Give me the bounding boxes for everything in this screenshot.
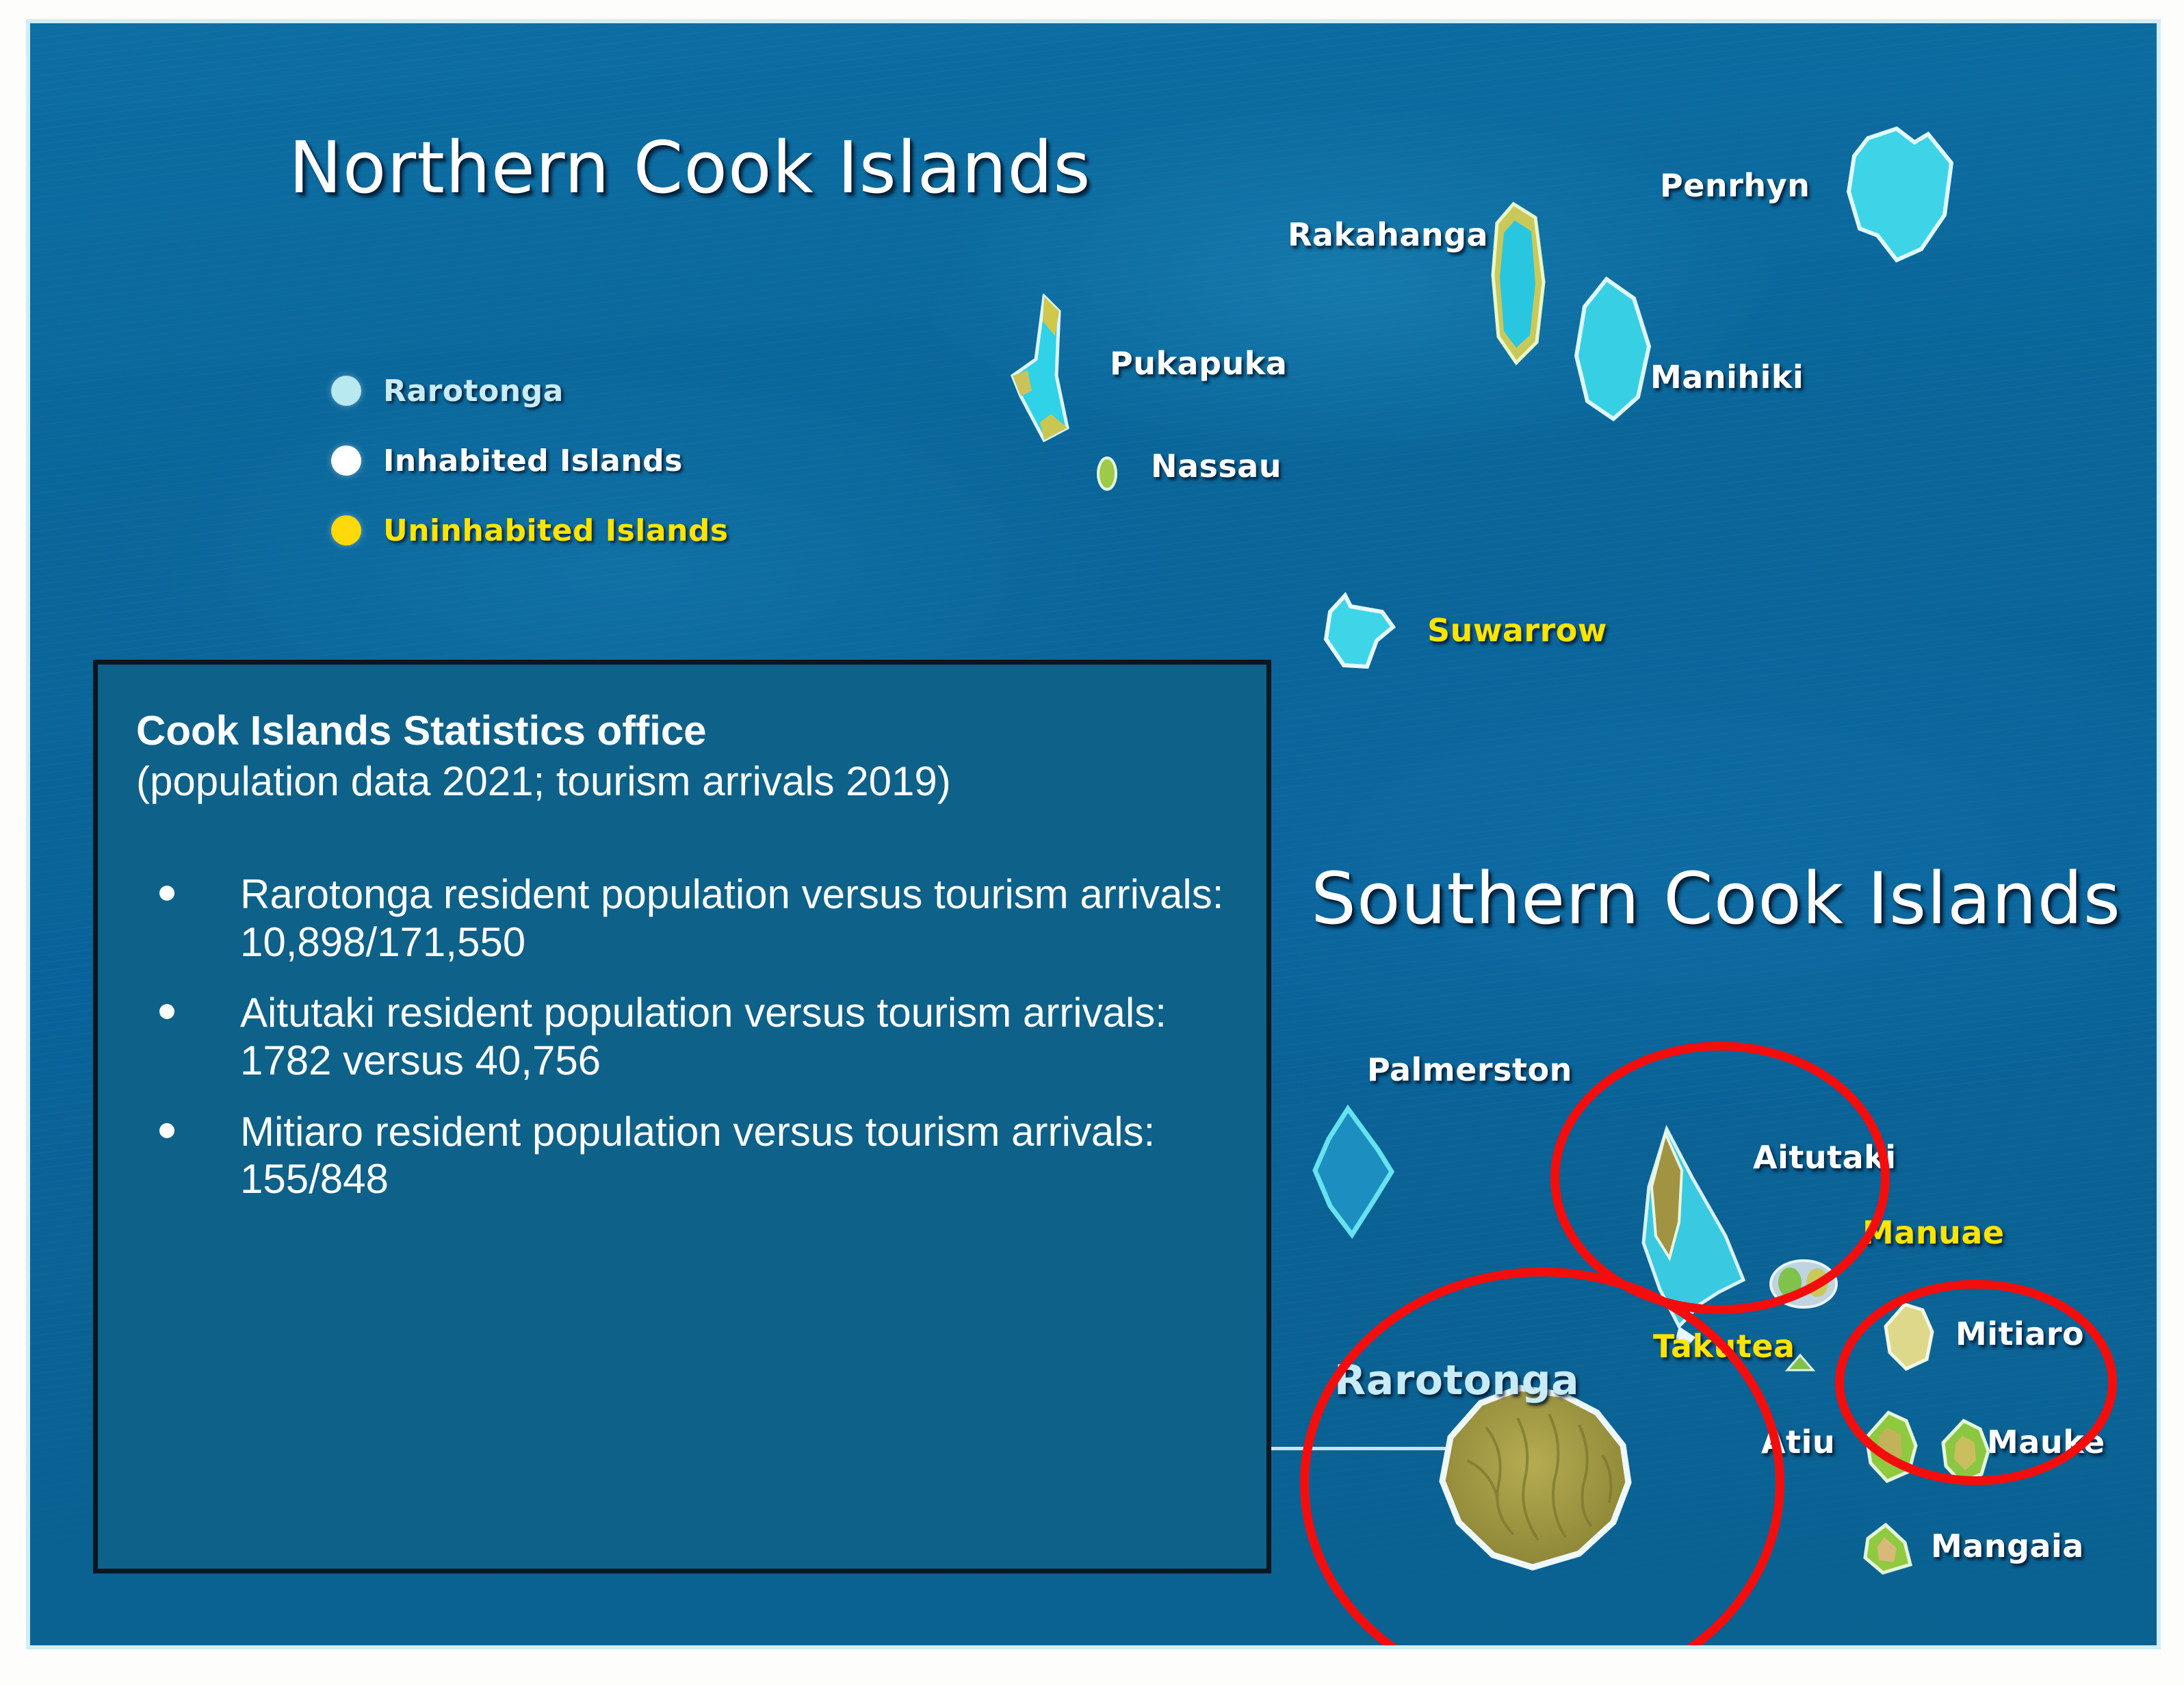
legend-label-inhabited-islands: Inhabited Islands [383,443,683,478]
island-label-manihiki: Manihiki [1650,359,1804,396]
legend-item-rarotonga: Rarotonga [331,374,729,408]
bullet-icon [159,1004,174,1019]
stats-bullet-list: Rarotonga resident population versus tou… [136,871,1228,1203]
island-label-rakahanga: Rakahanga [1288,216,1488,253]
island-shape-pukapuka [1009,294,1091,444]
list-item: Aitutaki resident population versus tour… [136,989,1228,1084]
bullet-icon [159,886,174,901]
screenshot-root: Northern Cook Islands Southern Cook Isla… [0,0,2184,1685]
list-item-text: Rarotonga resident population versus tou… [240,871,1223,965]
highlight-ellipse-mitiaro [1835,1280,2117,1485]
island-label-suwarrow: Suwarrow [1427,612,1607,649]
statistics-text-box: Cook Islands Statistics office (populati… [93,660,1271,1573]
list-item: Mitiaro resident population versus touri… [136,1108,1228,1203]
island-label-pukapuka: Pukapuka [1110,345,1287,382]
island-shape-nassau [1095,456,1119,491]
legend-item-inhabited: Inhabited Islands [331,443,729,478]
island-shape-suwarrow [1319,591,1400,673]
island-shape-penrhyn [1831,126,1965,266]
island-shape-mangaia [1858,1519,1917,1578]
circle-marker-icon [331,446,361,476]
highlight-ellipse-aitutaki [1550,1042,1890,1314]
legend-item-uninhabited: Uninhabited Islands [331,513,729,548]
cook-islands-map: Northern Cook Islands Southern Cook Isla… [26,19,2161,1649]
bullet-icon [159,1123,174,1138]
island-label-nassau: Nassau [1151,448,1282,485]
island-label-palmerston: Palmerston [1367,1051,1572,1088]
island-label-penrhyn: Penrhyn [1660,167,1810,204]
island-shape-palmerston [1305,1105,1414,1244]
northern-cook-islands-title: Northern Cook Islands [289,126,1091,209]
list-item: Rarotonga resident population versus tou… [136,871,1228,966]
island-shape-manihiki [1561,275,1664,424]
map-legend: Rarotonga Inhabited Islands Uninhabited … [331,374,729,583]
southern-cook-islands-title: Southern Cook Islands [1311,857,2121,940]
list-item-text: Mitiaro resident population versus touri… [240,1109,1155,1202]
legend-label-rarotonga: Rarotonga [383,374,564,409]
circle-marker-icon [331,515,361,545]
list-item-text: Aitutaki resident population versus tour… [240,990,1167,1083]
stats-subheading: (population data 2021; tourism arrivals … [136,758,1183,806]
island-shape-rakahanga [1486,200,1557,367]
legend-label-uninhabited-islands: Uninhabited Islands [383,513,729,548]
circle-marker-icon [331,376,361,406]
island-label-mangaia: Mangaia [1931,1528,2084,1565]
stats-heading: Cook Islands Statistics office [136,707,1228,755]
island-label-manuae: Manuae [1862,1214,2005,1251]
